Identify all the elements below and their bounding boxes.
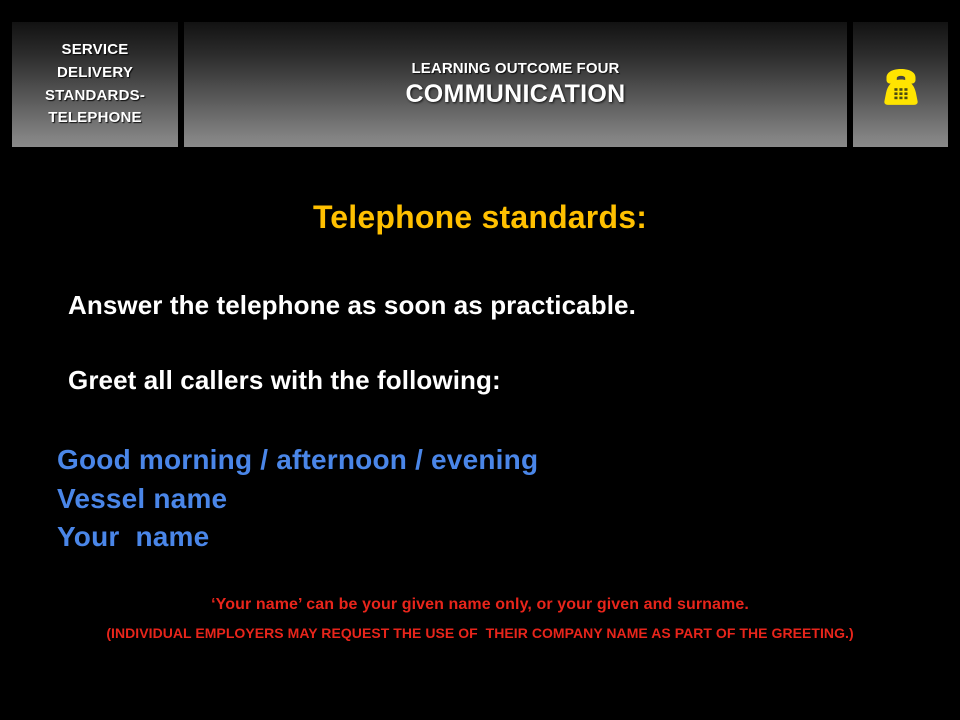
footnote-line-2: (INDIVIDUAL EMPLOYERS MAY REQUEST THE US…: [0, 625, 960, 641]
header-subtitle: LEARNING OUTCOME FOUR: [412, 60, 620, 77]
header-left-box: SERVICE DELIVERY STANDARDS- TELEPHONE: [12, 22, 178, 147]
greeting-line-3: Your name: [57, 521, 209, 553]
standard-line-1: Answer the telephone as soon as practica…: [68, 290, 636, 321]
standard-line-2: Greet all callers with the following:: [68, 365, 501, 396]
greeting-line-2: Vessel name: [57, 483, 227, 515]
greeting-line-1: Good morning / afternoon / evening: [57, 444, 538, 476]
header-title: COMMUNICATION: [405, 80, 625, 109]
page-title: Telephone standards:: [0, 199, 960, 236]
header-center-box: LEARNING OUTCOME FOUR COMMUNICATION: [184, 22, 847, 147]
header-right-box: [853, 22, 948, 147]
telephone-icon: [878, 66, 924, 108]
slide-canvas: SERVICE DELIVERY STANDARDS- TELEPHONE LE…: [0, 0, 960, 720]
footnote-line-1: ‘Your name’ can be your given name only,…: [0, 596, 960, 614]
header-left-label: SERVICE DELIVERY STANDARDS- TELEPHONE: [45, 39, 145, 130]
